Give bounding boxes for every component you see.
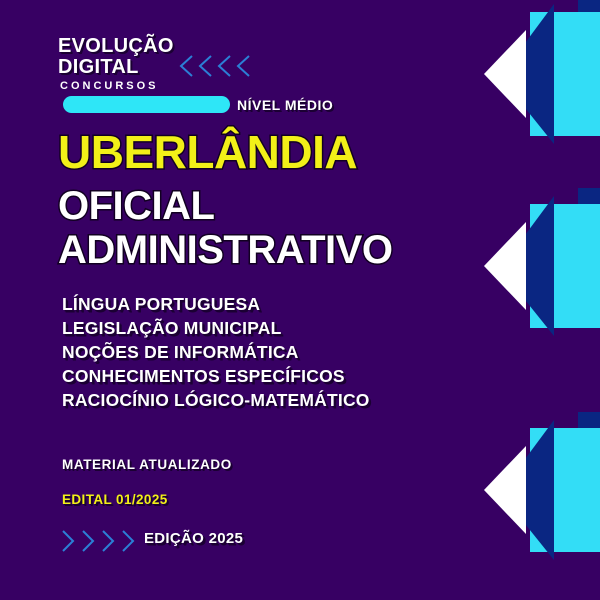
- chevron-right-icon: [120, 528, 137, 554]
- edition-year-text: EDIÇÃO 2025: [144, 530, 243, 547]
- level-badge-label: NÍVEL MÉDIO: [237, 97, 333, 113]
- page-title-city: UBERLÂNDIA: [58, 128, 357, 176]
- brand-name-line2: DIGITAL: [58, 57, 174, 78]
- brand-tagline: CONCURSOS: [60, 80, 159, 92]
- list-item: NOÇÕES DE INFORMÁTICA: [62, 340, 370, 364]
- list-item: CONHECIMENTOS ESPECÍFICOS: [62, 364, 370, 388]
- edital-reference-text: EDITAL 01/2025: [62, 492, 168, 507]
- subject-list: LÍNGUA PORTUGUESA LEGISLAÇÃO MUNICIPAL N…: [62, 292, 370, 412]
- material-status-text: MATERIAL ATUALIZADO: [62, 457, 232, 472]
- list-item: LEGISLAÇÃO MUNICIPAL: [62, 316, 370, 340]
- page-title-role-line2: ADMINISTRATIVO: [58, 228, 392, 272]
- brand-logo: EVOLUÇÃO DIGITAL: [58, 36, 174, 78]
- chevron-right-icon: [100, 528, 117, 554]
- chevron-right-icon: [60, 528, 77, 554]
- brand-name-line1: EVOLUÇÃO: [58, 36, 174, 57]
- chevron-left-icon: [178, 54, 195, 78]
- white-wedge-shape: [484, 222, 526, 310]
- side-chevron-cluster-2: [480, 186, 600, 346]
- white-wedge-shape: [484, 30, 526, 118]
- chevron-left-icon: [197, 54, 214, 78]
- chevron-right-icon: [80, 528, 97, 554]
- side-chevron-cluster-1: [480, 0, 600, 154]
- chevron-left-icon: [235, 54, 252, 78]
- level-pill-bar: [63, 96, 230, 113]
- header-chevron-group: [178, 54, 252, 78]
- poster-canvas: EVOLUÇÃO DIGITAL CONCURSOS NÍVEL MÉDIO U…: [0, 0, 600, 600]
- list-item: RACIOCÍNIO LÓGICO-MATEMÁTICO: [62, 388, 370, 412]
- page-title-role: OFICIAL ADMINISTRATIVO: [58, 184, 392, 272]
- footer-chevron-group: [60, 528, 137, 554]
- chevron-left-icon: [216, 54, 233, 78]
- white-wedge-shape: [484, 446, 526, 534]
- side-chevron-cluster-3: [480, 410, 600, 570]
- page-title-role-line1: OFICIAL: [58, 184, 392, 228]
- list-item: LÍNGUA PORTUGUESA: [62, 292, 370, 316]
